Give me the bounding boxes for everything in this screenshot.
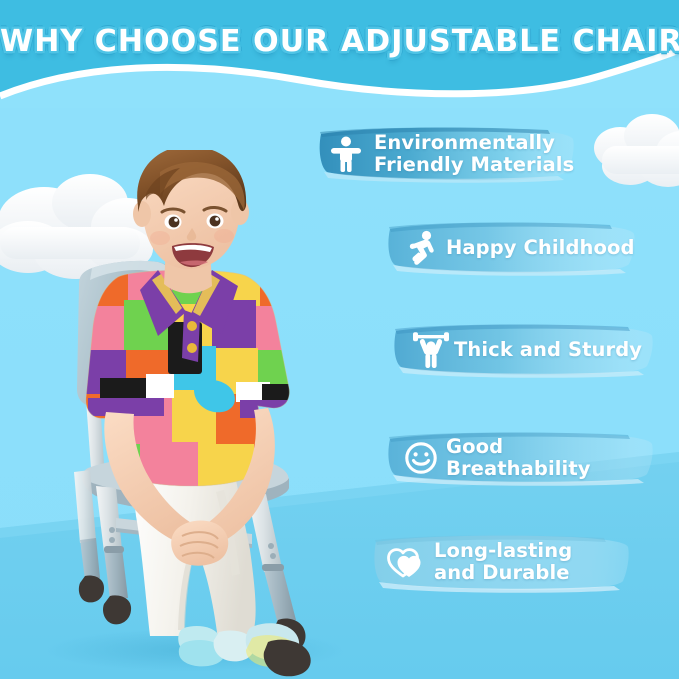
weightlifter-icon (412, 331, 450, 369)
feature-label-3: Good Breathability (446, 436, 654, 480)
feature-item-good-breathability[interactable]: Good Breathability (386, 428, 654, 488)
product-feature-infographic: WHY CHOOSE OUR ADJUSTABLE CHAIR? (0, 0, 679, 679)
feature-item-environmentally-friendly-materials[interactable]: Environmentally Friendly Materials (318, 122, 576, 186)
feature-item-thick-and-sturdy[interactable]: Thick and Sturdy (392, 320, 654, 380)
person-running-icon (408, 230, 438, 266)
double-heart-icon (386, 545, 424, 579)
page-title: WHY CHOOSE OUR ADJUSTABLE CHAIR? (0, 24, 679, 59)
cloud-right-icon (590, 108, 679, 208)
feature-item-long-lasting-and-durable[interactable]: Long-lasting and Durable (372, 530, 630, 594)
feature-item-happy-childhood[interactable]: Happy Childhood (386, 218, 636, 278)
feature-label-1: Happy Childhood (446, 237, 635, 259)
product-photo-boy-on-chair (0, 150, 400, 679)
smiley-face-icon (404, 441, 438, 475)
feature-label-2: Thick and Sturdy (454, 339, 642, 361)
feature-label-0: Environmentally Friendly Materials (374, 132, 574, 176)
person-standing-icon (330, 135, 362, 173)
feature-label-4: Long-lasting and Durable (434, 540, 572, 584)
